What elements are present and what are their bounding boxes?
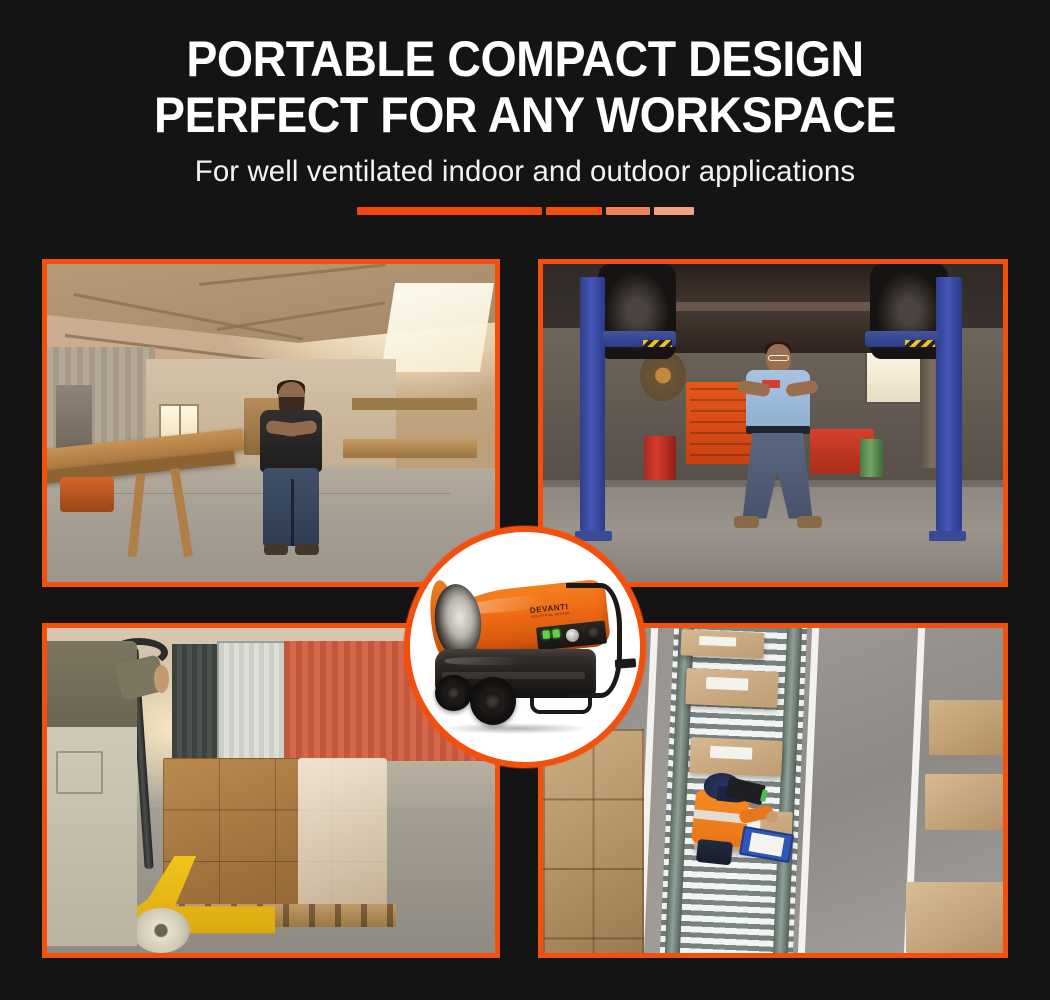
red-drum bbox=[644, 436, 676, 481]
carpenter-shoe-right bbox=[295, 544, 319, 555]
mechanic-figure bbox=[732, 344, 824, 567]
mechanic-belt bbox=[746, 426, 810, 434]
workshop-skylight bbox=[380, 283, 493, 372]
lift-post-left bbox=[580, 277, 605, 531]
wheel-hub bbox=[483, 691, 502, 711]
parcel-on-conveyor bbox=[685, 668, 778, 708]
cargo-pocket bbox=[56, 751, 103, 794]
power-led-icon bbox=[541, 630, 549, 639]
mechanic-trousers bbox=[743, 433, 813, 519]
photo-grid bbox=[0, 0, 1050, 1000]
carpenter-shoe-left bbox=[264, 544, 288, 555]
carpenter-shirt bbox=[260, 410, 322, 472]
lift-arm-left bbox=[603, 331, 677, 347]
shrink-wrap-layer bbox=[298, 758, 388, 914]
wheel-hub bbox=[446, 685, 461, 700]
dock-worker-figure bbox=[47, 641, 137, 947]
heater-support-foot bbox=[530, 698, 592, 714]
status-led-icon bbox=[552, 629, 560, 638]
mechanic-boot-left bbox=[734, 516, 759, 528]
mechanic-boot-right bbox=[797, 516, 822, 528]
pallet-jack-wheel bbox=[132, 908, 190, 954]
orange-power-tool bbox=[60, 477, 114, 512]
lift-arm-right bbox=[865, 331, 939, 347]
tool-shelf bbox=[352, 398, 477, 411]
product-shadow bbox=[442, 723, 589, 735]
carpenter-jeans bbox=[263, 468, 319, 546]
rear-workbench bbox=[343, 439, 477, 458]
box-right-3 bbox=[906, 882, 1003, 954]
box-right-2 bbox=[925, 774, 1003, 829]
heater-rear-bracket bbox=[614, 658, 635, 669]
worker-legs bbox=[696, 838, 733, 865]
lift-post-right bbox=[936, 277, 961, 531]
mechanic-glasses bbox=[768, 355, 789, 361]
green-drum bbox=[860, 439, 883, 477]
product-feature-banner: PORTABLE COMPACT DESIGN PERFECT FOR ANY … bbox=[0, 0, 1050, 1000]
box-right-1 bbox=[929, 700, 1003, 755]
worker-hand bbox=[154, 665, 169, 692]
portable-diesel-forced-air-heater: DEVANTI INDUSTRIAL HEATER bbox=[410, 532, 640, 762]
heater-carry-handle bbox=[566, 583, 621, 698]
heater-wheel-rear bbox=[435, 675, 472, 712]
lift-base-right bbox=[929, 531, 966, 541]
mechanic-uniform-shirt bbox=[746, 370, 810, 428]
parcel-on-conveyor bbox=[680, 629, 764, 659]
product-highlight-circle: DEVANTI INDUSTRIAL HEATER bbox=[404, 526, 646, 768]
heater-wheel-front bbox=[470, 677, 516, 725]
carpenter-figure bbox=[258, 382, 325, 557]
